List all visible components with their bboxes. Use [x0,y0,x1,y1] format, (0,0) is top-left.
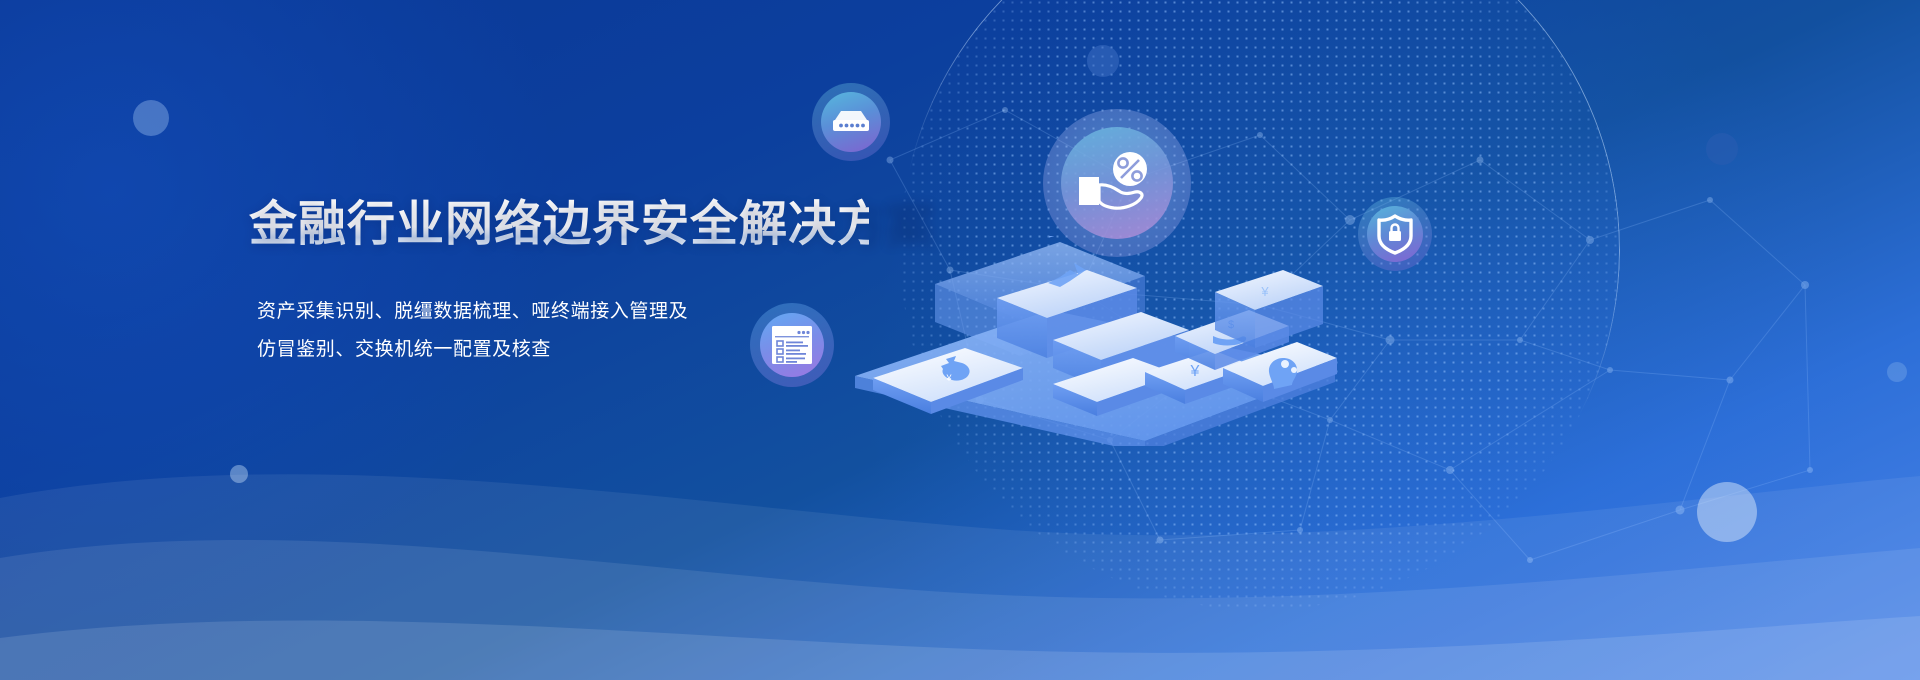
bokeh-dot-left-top [133,100,169,136]
document-list-icon [769,323,815,367]
network-switch-badge [812,83,890,161]
hand-percent-icon [1074,151,1160,215]
hero-banner: ¥ [0,0,1920,680]
page-title: 金融行业网络边界安全解决方案 [249,196,869,255]
bokeh-dot-left-mid [230,465,248,483]
bokeh-dot-right-edge [1887,362,1907,382]
bokeh-dot-right-top [1706,133,1738,165]
dotted-globe-icon [900,0,1620,610]
hand-percent-badge [1043,109,1191,257]
wave-front [0,616,1920,680]
shield-lock-icon [1376,213,1414,255]
network-switch-icon [828,107,874,137]
bokeh-dot-right-low [1697,482,1757,542]
shield-lock-badge [1358,197,1432,271]
